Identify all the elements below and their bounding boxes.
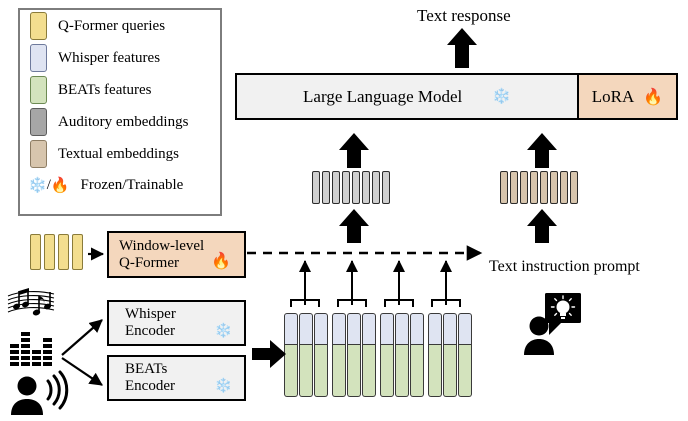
fire-icon: 🔥: [211, 251, 231, 271]
snowflake-icon: ❄️: [28, 176, 47, 195]
beats-feature-segment: [428, 345, 442, 397]
beats-encoder-label: BEATs Encoder: [125, 361, 175, 395]
beats-feature-segment: [332, 345, 346, 397]
arrow-into-auditory-row: [339, 209, 369, 243]
beats-feature-segment: [380, 345, 394, 397]
feature-column: [299, 313, 313, 397]
whisper-feature-segment: [332, 313, 346, 345]
textual-embeddings-row: [500, 171, 578, 204]
legend-swatch-beats-features: [30, 76, 47, 104]
auditory-token: [312, 171, 320, 204]
legend-swatch-whisper-features: [30, 44, 47, 72]
legend-label-q-former-queries: Q-Former queries: [58, 19, 165, 34]
llm-content: Large Language Model ❄️: [303, 87, 511, 107]
llm-label: Large Language Model: [303, 87, 462, 107]
auditory-token: [342, 171, 350, 204]
textual-token: [540, 171, 548, 204]
feature-group: [428, 313, 472, 397]
legend-item-beats-features: BEATs features: [20, 74, 220, 106]
legend-panel: Q-Former queries Whisper features BEATs …: [18, 8, 222, 216]
beats-feature-segment: [443, 345, 457, 397]
snowflake-icon: ❄️: [215, 323, 232, 340]
whisper-feature-segment: [410, 313, 424, 345]
arrow-audio-to-beats: [62, 358, 102, 385]
legend-item-frozen-trainable: ❄️ / 🔥 Frozen/Trainable: [20, 170, 220, 200]
beats-feature-segment: [362, 345, 376, 397]
legend-label-frozen-trainable: Frozen/Trainable: [81, 178, 184, 193]
whisper-feature-segment: [443, 313, 457, 345]
auditory-token: [382, 171, 390, 204]
whisper-feature-segment: [284, 313, 298, 345]
arrow-audio-to-whisper: [62, 320, 102, 355]
whisper-encoder-label: Whisper Encoder: [125, 306, 176, 340]
textual-token: [550, 171, 558, 204]
auditory-embeddings-row: [312, 171, 390, 204]
legend-label-beats-features: BEATs features: [58, 83, 152, 98]
whisper-feature-segment: [395, 313, 409, 345]
lora-box[interactable]: LoRA 🔥: [577, 73, 678, 120]
textual-token: [500, 171, 508, 204]
snowflake-icon: ❄️: [215, 378, 232, 395]
beats-feature-segment: [458, 345, 472, 397]
beats-feature-segment: [347, 345, 361, 397]
feature-column: [314, 313, 328, 397]
whisper-encoder-label-line1: Whisper: [125, 306, 176, 323]
legend-label-textual-embeddings: Textual embeddings: [58, 147, 179, 162]
query-token: [58, 234, 69, 270]
arrow-feature-group-4: [432, 261, 460, 307]
feature-column: [443, 313, 457, 397]
beats-feature-segment: [410, 345, 424, 397]
whisper-feature-segment: [314, 313, 328, 345]
textual-token: [520, 171, 528, 204]
text-response-label: Text response: [417, 6, 511, 26]
arrow-feature-group-3: [385, 261, 413, 307]
equalizer-icon: [10, 332, 52, 366]
auditory-token: [372, 171, 380, 204]
legend-item-textual-embeddings: Textual embeddings: [20, 138, 220, 170]
auditory-token: [332, 171, 340, 204]
person-speaking-icon: [11, 372, 67, 415]
feature-column: [395, 313, 409, 397]
feature-group: [332, 313, 376, 397]
auditory-token: [352, 171, 360, 204]
query-token: [72, 234, 83, 270]
query-token: [44, 234, 55, 270]
legend-item-auditory-embeddings: Auditory embeddings: [20, 106, 220, 138]
feature-column: [347, 313, 361, 397]
snowflake-icon: ❄️: [492, 87, 511, 106]
feature-column: [380, 313, 394, 397]
textual-token: [510, 171, 518, 204]
feature-group: [284, 313, 328, 397]
feature-column: [410, 313, 424, 397]
whisper-feature-segment: [428, 313, 442, 345]
legend-swatch-q-former-queries: [30, 12, 47, 40]
textual-token: [560, 171, 568, 204]
arrow-encoders-to-features: [252, 340, 286, 368]
feature-column: [428, 313, 442, 397]
legend-swatch-auditory-embeddings: [30, 108, 47, 136]
beats-encoder-box[interactable]: BEATs Encoder ❄️: [107, 355, 246, 401]
beats-encoder-label-line1: BEATs: [125, 361, 175, 378]
arrow-auditory-to-llm: [339, 133, 369, 168]
arrow-into-textual-row: [527, 209, 557, 243]
feature-column: [458, 313, 472, 397]
textual-token: [530, 171, 538, 204]
window-level-q-former-box[interactable]: Window-level Q-Former 🔥: [107, 231, 246, 278]
audio-feature-columns: [284, 313, 476, 397]
legend-item-q-former-queries: Q-Former queries: [20, 10, 220, 42]
beats-feature-segment: [395, 345, 409, 397]
whisper-feature-segment: [362, 313, 376, 345]
whisper-feature-segment: [458, 313, 472, 345]
lora-content: LoRA 🔥: [592, 87, 663, 107]
feature-group: [380, 313, 424, 397]
beats-feature-segment: [314, 345, 328, 397]
q-former-label: Window-level Q-Former: [119, 238, 204, 272]
query-token: [30, 234, 41, 270]
auditory-token: [322, 171, 330, 204]
whisper-feature-segment: [299, 313, 313, 345]
arrow-llm-to-text-response: [447, 28, 477, 68]
legend-label-whisper-features: Whisper features: [58, 51, 160, 66]
legend-swatch-textual-embeddings: [30, 140, 47, 168]
lora-label: LoRA: [592, 87, 635, 107]
legend-label-auditory-embeddings: Auditory embeddings: [58, 115, 188, 130]
arrow-textual-to-llm: [527, 133, 557, 168]
q-former-label-line2: Q-Former: [119, 255, 204, 272]
textual-token: [570, 171, 578, 204]
feature-column: [332, 313, 346, 397]
music-notes-icon: [8, 288, 54, 316]
whisper-encoder-box[interactable]: Whisper Encoder ❄️: [107, 300, 246, 346]
whisper-encoder-label-line2: Encoder: [125, 323, 176, 340]
fire-icon: 🔥: [51, 176, 70, 195]
auditory-token: [362, 171, 370, 204]
arrow-feature-group-1: [291, 261, 319, 307]
arrow-feature-group-2: [338, 261, 366, 307]
text-instruction-prompt-label: Text instruction prompt: [489, 258, 640, 276]
q-former-queries-row: [30, 234, 83, 270]
q-former-label-line1: Window-level: [119, 238, 204, 255]
whisper-feature-segment: [380, 313, 394, 345]
feature-column: [362, 313, 376, 397]
whisper-feature-segment: [347, 313, 361, 345]
legend-item-whisper-features: Whisper features: [20, 42, 220, 74]
large-language-model-box[interactable]: Large Language Model ❄️: [235, 73, 579, 120]
beats-feature-segment: [284, 345, 298, 397]
feature-column: [284, 313, 298, 397]
fire-icon: 🔥: [643, 87, 663, 107]
beats-feature-segment: [299, 345, 313, 397]
beats-encoder-label-line2: Encoder: [125, 378, 175, 395]
person-with-lightbulb-bubble-icon: [524, 293, 581, 355]
